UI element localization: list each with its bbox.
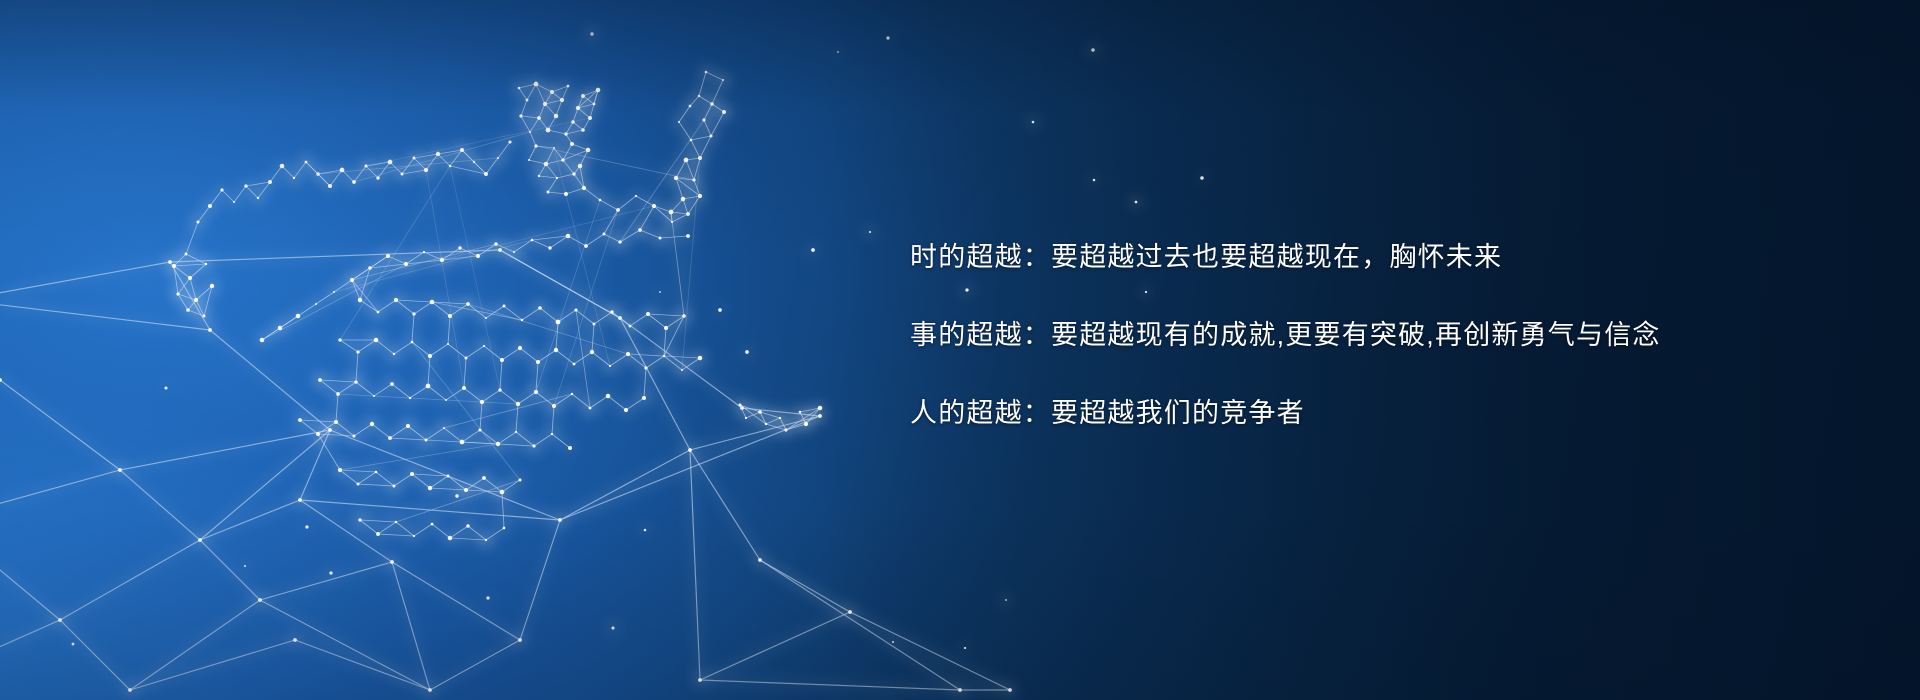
hero-banner: 时的超越：要超越过去也要超越现在，胸怀未来 事的超越：要超越现有的成就,更要有突…	[0, 0, 1920, 700]
slogan-line-1: 时的超越：要超越过去也要超越现在，胸怀未来	[910, 218, 1810, 296]
slogan-text-block: 时的超越：要超越过去也要超越现在，胸怀未来 事的超越：要超越现有的成就,更要有突…	[910, 218, 1810, 452]
slogan-line-3: 人的超越：要超越我们的竞争者	[910, 374, 1810, 452]
slogan-line-2: 事的超越：要超越现有的成就,更要有突破,再创新勇气与信念	[910, 296, 1810, 374]
